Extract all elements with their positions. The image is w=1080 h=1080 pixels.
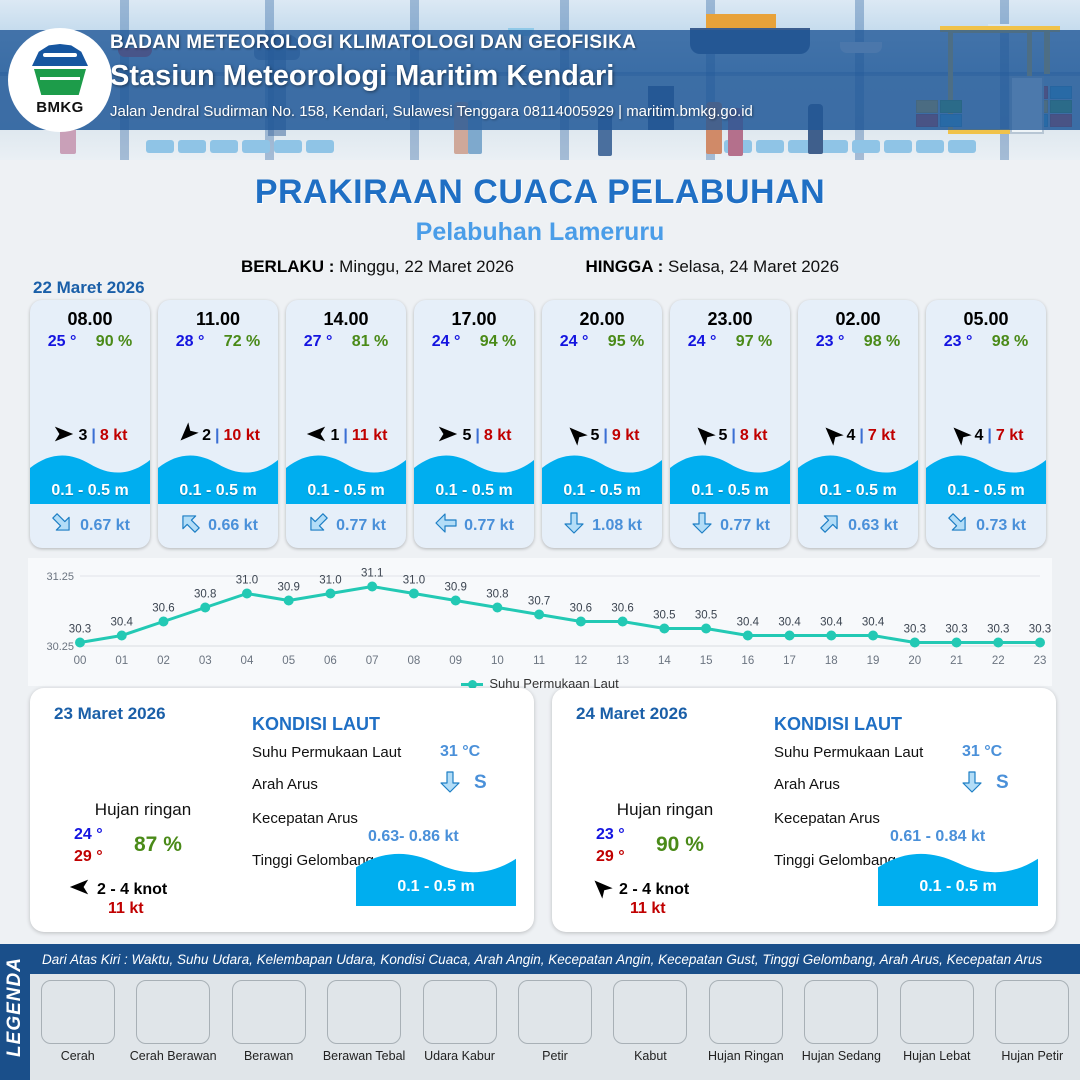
- daily-forecast-panel: 23 Maret 2026Hujan ringan24 °29 °87 %2 -…: [30, 688, 534, 932]
- weather-hujan-ringan-icon: [709, 980, 783, 1044]
- bmkg-logo: BMKG: [8, 28, 112, 132]
- svg-text:02: 02: [157, 655, 170, 667]
- card-wind-row: 3|8 kt: [30, 419, 150, 453]
- current-direction-arrow-icon: [438, 770, 462, 799]
- legend-side-bar: LEGENDA: [0, 944, 30, 1080]
- berlaku-label: BERLAKU :: [241, 257, 335, 276]
- current-speed-value: 0.66 kt: [208, 517, 258, 535]
- panel-gust: 11 kt: [108, 900, 144, 918]
- panel-wind-range: 2 - 4 knot: [97, 881, 167, 899]
- svg-text:15: 15: [700, 655, 713, 667]
- card-wind-row: 2|10 kt: [158, 419, 278, 453]
- sst-chart: 31.2530.2530.30030.40130.60230.80331.004…: [28, 558, 1052, 686]
- panel-wind-range: 2 - 4 knot: [619, 881, 689, 899]
- wind-speed-value: 4: [975, 427, 984, 445]
- panel-sst-label: Suhu Permukaan Laut: [252, 744, 401, 761]
- weather-berawan-icon: [232, 980, 306, 1044]
- wind-speed-value: 5: [591, 427, 600, 445]
- card-temperature: 28 °: [176, 333, 205, 351]
- svg-text:06: 06: [324, 655, 337, 667]
- wave-height-value: 0.1 - 0.5 m: [926, 482, 1046, 500]
- forecast-card: 23.0024 °97 %5|8 kt0.1 - 0.5 m0.77 kt: [670, 300, 790, 548]
- title-block: PRAKIRAAN CUACA PELABUHAN Pelabuhan Lame…: [0, 160, 1080, 277]
- legend-item: Udara Kabur: [412, 980, 507, 1063]
- legend-item: Berawan Tebal: [317, 980, 412, 1063]
- wind-separator: |: [603, 427, 607, 445]
- card-current-row: 0.77 kt: [670, 511, 790, 540]
- card-time: 14.00: [286, 300, 406, 330]
- svg-text:30.4: 30.4: [862, 617, 885, 629]
- agency-name: BADAN METEOROLOGI KLIMATOLOGI DAN GEOFIS…: [110, 32, 753, 54]
- wind-speed-value: 2: [202, 427, 211, 445]
- card-temperature: 24 °: [432, 333, 461, 351]
- legend-item-label: Udara Kabur: [412, 1049, 507, 1063]
- card-humidity: 90 %: [96, 333, 132, 351]
- svg-text:30.4: 30.4: [111, 617, 134, 629]
- svg-text:31.25: 31.25: [46, 571, 74, 583]
- legend-item-label: Cerah: [30, 1049, 125, 1063]
- chart-legend-marker-icon: [461, 683, 483, 686]
- gust-value: 8 kt: [100, 427, 128, 445]
- wind-separator: |: [859, 427, 863, 445]
- card-time: 05.00: [926, 300, 1046, 330]
- card-temp-hum-row: 24 °95 %: [542, 330, 662, 351]
- wind-separator: |: [91, 427, 95, 445]
- weather-kabut-icon: [613, 980, 687, 1044]
- panel-temp-max: 29 °: [74, 848, 103, 866]
- panel-current-speed-value: 0.61 - 0.84 kt: [890, 828, 985, 846]
- current-direction-arrow-icon: [946, 511, 970, 540]
- panel-sst-value: 31 °C: [440, 743, 480, 761]
- card-current-row: 0.66 kt: [158, 511, 278, 540]
- legend-section: LEGENDA Dari Atas Kiri : Waktu, Suhu Uda…: [0, 944, 1080, 1080]
- panel-wind-row: 2 - 4 knot: [68, 876, 167, 903]
- legend-item: Cerah Berawan: [126, 980, 221, 1063]
- card-time: 17.00: [414, 300, 534, 330]
- card-temperature: 24 °: [688, 333, 717, 351]
- wind-direction-arrow-icon: [693, 423, 715, 450]
- svg-text:19: 19: [867, 655, 880, 667]
- svg-text:16: 16: [741, 655, 754, 667]
- card-humidity: 94 %: [480, 333, 516, 351]
- header-text-block: BADAN METEOROLOGI KLIMATOLOGI DAN GEOFIS…: [110, 32, 753, 120]
- forecast-card: 02.0023 °98 %4|7 kt0.1 - 0.5 m0.63 kt: [798, 300, 918, 548]
- berlaku-value: Minggu, 22 Maret 2026: [339, 257, 514, 276]
- svg-text:31.0: 31.0: [319, 575, 341, 587]
- wind-separator: |: [343, 427, 347, 445]
- panel-wave-value: 0.1 - 0.5 m: [878, 878, 1038, 896]
- svg-text:31.0: 31.0: [236, 575, 258, 587]
- card-temp-hum-row: 25 °90 %: [30, 330, 150, 351]
- legend-item-label: Berawan Tebal: [317, 1049, 412, 1063]
- svg-text:30.3: 30.3: [904, 624, 926, 636]
- hourly-forecast-row: 08.0025 °90 %3|8 kt0.1 - 0.5 m0.67 kt11.…: [30, 300, 1046, 548]
- card-temp-hum-row: 23 °98 %: [926, 330, 1046, 351]
- panel-gust: 11 kt: [630, 900, 666, 918]
- card-humidity: 95 %: [608, 333, 644, 351]
- current-direction-arrow-icon: [434, 511, 458, 540]
- legend-side-title: LEGENDA: [4, 950, 26, 1064]
- svg-text:30.9: 30.9: [444, 582, 466, 594]
- card-temp-hum-row: 24 °97 %: [670, 330, 790, 351]
- current-direction-arrow-icon: [960, 770, 984, 799]
- card-wind-row: 4|7 kt: [926, 419, 1046, 453]
- card-current-row: 0.77 kt: [414, 511, 534, 540]
- svg-text:04: 04: [241, 655, 254, 667]
- station-name: Stasiun Meteorologi Maritim Kendari: [110, 60, 753, 93]
- legend-item-label: Hujan Petir: [985, 1049, 1080, 1063]
- forecast-card: 14.0027 °81 %1|11 kt0.1 - 0.5 m0.77 kt: [286, 300, 406, 548]
- svg-text:30.4: 30.4: [737, 617, 760, 629]
- svg-text:30.4: 30.4: [778, 617, 801, 629]
- panel-sst-label: Suhu Permukaan Laut: [774, 744, 923, 761]
- current-direction-arrow-icon: [690, 511, 714, 540]
- forecast-card: 17.0024 °94 %5|8 kt0.1 - 0.5 m0.77 kt: [414, 300, 534, 548]
- svg-text:03: 03: [199, 655, 212, 667]
- card-temp-hum-row: 28 °72 %: [158, 330, 278, 351]
- legend-item: Kabut: [603, 980, 698, 1063]
- current-speed-value: 1.08 kt: [592, 517, 642, 535]
- port-name: Pelabuhan Lameruru: [0, 218, 1080, 247]
- svg-text:30.9: 30.9: [278, 582, 300, 594]
- weather-hujan-ringan-icon: [88, 726, 198, 796]
- legend-item: Cerah: [30, 980, 125, 1063]
- weather-cerah-berawan-icon: [158, 353, 278, 419]
- logo-shape-bottom: [34, 69, 86, 95]
- current-speed-value: 0.63 kt: [848, 517, 898, 535]
- panel-temp-max: 29 °: [596, 848, 625, 866]
- card-current-row: 1.08 kt: [542, 511, 662, 540]
- panel-humidity: 87 %: [134, 833, 182, 857]
- contact-info: Jalan Jendral Sudirman No. 158, Kendari,…: [110, 103, 753, 120]
- legend-note: Dari Atas Kiri : Waktu, Suhu Udara, Kele…: [30, 944, 1080, 974]
- card-time: 08.00: [30, 300, 150, 330]
- hingga-label: HINGGA :: [585, 257, 663, 276]
- svg-text:30.7: 30.7: [528, 596, 550, 608]
- current-direction-arrow-icon: [818, 511, 842, 540]
- validity-dates: BERLAKU : Minggu, 22 Maret 2026 HINGGA :…: [0, 257, 1080, 277]
- current-speed-value: 0.77 kt: [336, 517, 386, 535]
- svg-text:30.8: 30.8: [194, 589, 216, 601]
- legend-items: CerahCerah BerawanBerawanBerawan TebalUd…: [30, 980, 1080, 1063]
- current-speed-value: 0.67 kt: [80, 517, 130, 535]
- wind-speed-value: 5: [463, 427, 472, 445]
- svg-text:01: 01: [115, 655, 128, 667]
- svg-text:13: 13: [616, 655, 629, 667]
- legend-item: Hujan Petir: [985, 980, 1080, 1063]
- wind-speed-value: 3: [79, 427, 88, 445]
- svg-text:20: 20: [908, 655, 921, 667]
- panel-current-speed-value: 0.63- 0.86 kt: [368, 828, 459, 846]
- header-banner: BMKG BADAN METEOROLOGI KLIMATOLOGI DAN G…: [0, 0, 1080, 160]
- wind-direction-arrow-icon: [821, 423, 843, 450]
- wind-separator: |: [215, 427, 219, 445]
- wind-separator: |: [987, 427, 991, 445]
- gust-value: 7 kt: [996, 427, 1024, 445]
- legend-item-label: Kabut: [603, 1049, 698, 1063]
- forecast-card: 08.0025 °90 %3|8 kt0.1 - 0.5 m0.67 kt: [30, 300, 150, 548]
- current-speed-value: 0.73 kt: [976, 517, 1026, 535]
- wind-speed-value: 5: [719, 427, 728, 445]
- panel-sea-title: KONDISI LAUT: [252, 714, 380, 735]
- daily-forecast-panel: 24 Maret 2026Hujan ringan23 °29 °90 %2 -…: [552, 688, 1056, 932]
- weather-cerah-berawan-icon: [136, 980, 210, 1044]
- panel-sst-value: 31 °C: [962, 743, 1002, 761]
- svg-text:18: 18: [825, 655, 838, 667]
- wave-height-value: 0.1 - 0.5 m: [286, 482, 406, 500]
- gust-value: 11 kt: [352, 427, 388, 445]
- gust-value: 8 kt: [484, 427, 512, 445]
- wave-height-value: 0.1 - 0.5 m: [670, 482, 790, 500]
- card-wind-row: 5|9 kt: [542, 419, 662, 453]
- forecast-card: 11.0028 °72 %2|10 kt0.1 - 0.5 m0.66 kt: [158, 300, 278, 548]
- legend-item-label: Hujan Ringan: [698, 1049, 793, 1063]
- gust-value: 10 kt: [223, 427, 259, 445]
- panel-temp-min: 23 °: [596, 826, 625, 844]
- wave-height-value: 0.1 - 0.5 m: [414, 482, 534, 500]
- panel-date: 24 Maret 2026: [576, 704, 688, 724]
- wind-direction-arrow-icon: [949, 423, 971, 450]
- hingga-value: Selasa, 24 Maret 2026: [668, 257, 839, 276]
- weather-berawan-icon: [926, 353, 1046, 419]
- weather-hujan-ringan-icon: [286, 353, 406, 419]
- wind-separator: |: [731, 427, 735, 445]
- card-time: 20.00: [542, 300, 662, 330]
- card-current-row: 0.73 kt: [926, 511, 1046, 540]
- wave-height-value: 0.1 - 0.5 m: [30, 482, 150, 500]
- svg-text:08: 08: [408, 655, 421, 667]
- svg-text:09: 09: [449, 655, 462, 667]
- panel-wave-value: 0.1 - 0.5 m: [356, 878, 516, 896]
- svg-text:10: 10: [491, 655, 504, 667]
- card-humidity: 98 %: [992, 333, 1028, 351]
- current-direction-arrow-icon: [50, 511, 74, 540]
- legend-item: Berawan: [221, 980, 316, 1063]
- svg-text:30.4: 30.4: [820, 617, 843, 629]
- svg-text:30.3: 30.3: [945, 624, 967, 636]
- weather-berawan-icon: [542, 353, 662, 419]
- wind-direction-arrow-icon: [565, 423, 587, 450]
- current-speed-value: 0.77 kt: [720, 517, 770, 535]
- card-temperature: 23 °: [816, 333, 845, 351]
- weather-berawan-tebal-icon: [327, 980, 401, 1044]
- card-wind-row: 1|11 kt: [286, 419, 406, 453]
- weather-berawan-icon: [30, 353, 150, 419]
- svg-text:11: 11: [533, 655, 545, 667]
- legend-item: Petir: [507, 980, 602, 1063]
- wave-height-value: 0.1 - 0.5 m: [798, 482, 918, 500]
- weather-cerah-icon: [41, 980, 115, 1044]
- card-humidity: 72 %: [224, 333, 260, 351]
- card-time: 02.00: [798, 300, 918, 330]
- legend-item: Hujan Sedang: [794, 980, 889, 1063]
- card-current-row: 0.63 kt: [798, 511, 918, 540]
- panel-sea-title: KONDISI LAUT: [774, 714, 902, 735]
- svg-text:30.3: 30.3: [69, 624, 91, 636]
- legend-item-label: Hujan Sedang: [794, 1049, 889, 1063]
- wind-direction-arrow-icon: [53, 423, 75, 450]
- panel-date: 23 Maret 2026: [54, 704, 166, 724]
- wind-separator: |: [475, 427, 479, 445]
- wind-speed-value: 4: [847, 427, 856, 445]
- svg-text:30.6: 30.6: [611, 603, 633, 615]
- svg-text:30.5: 30.5: [653, 610, 675, 622]
- forecast-card: 05.0023 °98 %4|7 kt0.1 - 0.5 m0.73 kt: [926, 300, 1046, 548]
- svg-text:14: 14: [658, 655, 671, 667]
- panel-current-dir-label: Arah Arus: [252, 776, 318, 793]
- weather-hujan-sedang-icon: [804, 980, 878, 1044]
- panel-wind-row: 2 - 4 knot: [590, 876, 689, 903]
- wind-direction-arrow-icon: [437, 423, 459, 450]
- card-temp-hum-row: 27 °81 %: [286, 330, 406, 351]
- panel-current-dir-label: Arah Arus: [774, 776, 840, 793]
- svg-text:30.6: 30.6: [152, 603, 174, 615]
- wind-direction-arrow-icon: [68, 876, 90, 903]
- card-temp-hum-row: 23 °98 %: [798, 330, 918, 351]
- svg-text:00: 00: [74, 655, 87, 667]
- svg-text:30.8: 30.8: [486, 589, 508, 601]
- gust-value: 7 kt: [868, 427, 896, 445]
- legend-item-label: Cerah Berawan: [126, 1049, 221, 1063]
- weather-hujan-lebat-icon: [900, 980, 974, 1044]
- weather-hujan-petir-icon: [414, 353, 534, 419]
- svg-text:17: 17: [783, 655, 796, 667]
- weather-udara-kabur-icon: [423, 980, 497, 1044]
- panel-current-speed-label: Kecepatan Arus: [774, 810, 880, 827]
- wave-graphic-icon: [878, 848, 1038, 906]
- wave-height-value: 0.1 - 0.5 m: [158, 482, 278, 500]
- current-direction-arrow-icon: [562, 511, 586, 540]
- card-humidity: 97 %: [736, 333, 772, 351]
- svg-text:23: 23: [1034, 655, 1047, 667]
- legend-item-label: Berawan: [221, 1049, 316, 1063]
- svg-text:30.25: 30.25: [46, 641, 74, 653]
- daily-panels: 23 Maret 2026Hujan ringan24 °29 °87 %2 -…: [30, 688, 1056, 932]
- svg-text:31.0: 31.0: [403, 575, 425, 587]
- panel-condition: Hujan ringan: [50, 800, 236, 820]
- forecast-card: 20.0024 °95 %5|9 kt0.1 - 0.5 m1.08 kt: [542, 300, 662, 548]
- gust-value: 9 kt: [612, 427, 640, 445]
- panel-current-dir-value: S: [996, 772, 1009, 794]
- logo-text: BMKG: [36, 99, 83, 116]
- wave-height-value: 0.1 - 0.5 m: [542, 482, 662, 500]
- weather-berawan-icon: [670, 353, 790, 419]
- card-time: 23.00: [670, 300, 790, 330]
- wind-direction-arrow-icon: [590, 876, 612, 903]
- svg-text:30.3: 30.3: [987, 624, 1009, 636]
- weather-hujan-ringan-icon: [610, 726, 720, 796]
- card-humidity: 98 %: [864, 333, 900, 351]
- card-temperature: 27 °: [304, 333, 333, 351]
- svg-text:30.6: 30.6: [570, 603, 592, 615]
- weather-berawan-icon: [798, 353, 918, 419]
- svg-text:30.5: 30.5: [695, 610, 717, 622]
- logo-shape-top: [32, 44, 88, 66]
- wind-direction-arrow-icon: [305, 423, 327, 450]
- svg-text:07: 07: [366, 655, 379, 667]
- card-temperature: 24 °: [560, 333, 589, 351]
- card-temperature: 25 °: [48, 333, 77, 351]
- svg-text:05: 05: [282, 655, 295, 667]
- card-temperature: 23 °: [944, 333, 973, 351]
- card-current-row: 0.67 kt: [30, 511, 150, 540]
- weather-infographic: BMKG BADAN METEOROLOGI KLIMATOLOGI DAN G…: [0, 0, 1080, 1080]
- legend-item-label: Hujan Lebat: [889, 1049, 984, 1063]
- card-wind-row: 5|8 kt: [414, 419, 534, 453]
- card-current-row: 0.77 kt: [286, 511, 406, 540]
- svg-text:22: 22: [992, 655, 1005, 667]
- svg-text:30.3: 30.3: [1029, 624, 1051, 636]
- wind-speed-value: 1: [331, 427, 340, 445]
- svg-text:21: 21: [950, 655, 963, 667]
- page-title: PRAKIRAAN CUACA PELABUHAN: [0, 173, 1080, 212]
- weather-petir-icon: [518, 980, 592, 1044]
- wave-graphic-icon: [356, 848, 516, 906]
- svg-text:12: 12: [574, 655, 587, 667]
- card-wind-row: 5|8 kt: [670, 419, 790, 453]
- legend-item: Hujan Ringan: [698, 980, 793, 1063]
- svg-text:31.1: 31.1: [361, 568, 383, 580]
- panel-humidity: 90 %: [656, 833, 704, 857]
- wind-direction-arrow-icon: [176, 423, 198, 450]
- legend-item-label: Petir: [507, 1049, 602, 1063]
- card-humidity: 81 %: [352, 333, 388, 351]
- forecast-day-label: 22 Maret 2026: [33, 278, 145, 298]
- card-temp-hum-row: 24 °94 %: [414, 330, 534, 351]
- panel-condition: Hujan ringan: [572, 800, 758, 820]
- current-direction-arrow-icon: [306, 511, 330, 540]
- weather-hujan-petir-icon: [995, 980, 1069, 1044]
- gust-value: 8 kt: [740, 427, 768, 445]
- panel-current-dir-value: S: [474, 772, 487, 794]
- panel-temp-min: 24 °: [74, 826, 103, 844]
- card-time: 11.00: [158, 300, 278, 330]
- card-wind-row: 4|7 kt: [798, 419, 918, 453]
- current-direction-arrow-icon: [178, 511, 202, 540]
- panel-current-speed-label: Kecepatan Arus: [252, 810, 358, 827]
- current-speed-value: 0.77 kt: [464, 517, 514, 535]
- legend-item: Hujan Lebat: [889, 980, 984, 1063]
